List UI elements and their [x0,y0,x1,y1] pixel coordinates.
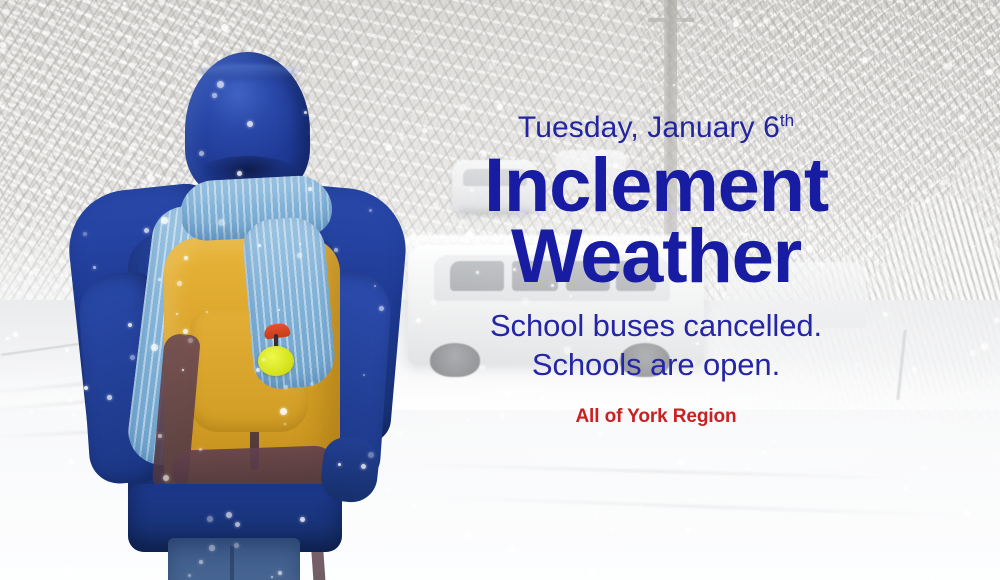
child-with-backpack [40,38,400,580]
page-title: Inclement Weather [400,150,912,293]
announcement-text-block: Tuesday, January 6th Inclement Weather S… [400,112,912,428]
date-text: Tuesday, January 6 [518,111,780,144]
mitten [319,435,381,505]
status-message: School buses cancelled. Schools are open… [400,306,912,384]
headline-line-2: Weather [400,221,912,292]
date-ordinal-suffix: th [780,111,794,130]
jeans [168,538,300,580]
region-label: All of York Region [400,406,912,428]
status-line-1: School buses cancelled. [400,306,912,345]
status-line-2: Schools are open. [400,345,912,384]
date-line: Tuesday, January 6th [400,112,912,144]
reflector-tag [258,346,294,376]
hood-fold [198,64,298,80]
inclement-weather-banner: Tuesday, January 6th Inclement Weather S… [0,0,1000,580]
